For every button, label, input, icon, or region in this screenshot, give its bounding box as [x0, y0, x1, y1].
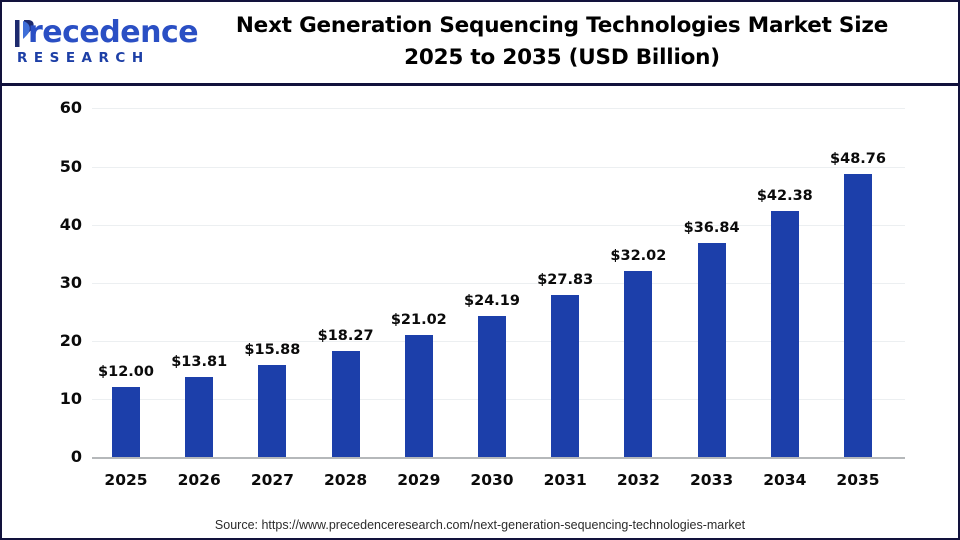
bar[interactable] [771, 211, 799, 457]
bar[interactable] [478, 316, 506, 457]
y-axis-tick-label: 20 [20, 333, 82, 349]
y-axis-tick-label: 0 [20, 449, 82, 465]
bar-value-label: $27.83 [521, 272, 609, 288]
bar-column[interactable]: $36.84 [698, 243, 726, 457]
bar[interactable] [258, 365, 286, 457]
y-axis-tick-label: 30 [20, 275, 82, 291]
bar-value-label: $24.19 [448, 293, 536, 309]
bar-column[interactable]: $15.88 [258, 365, 286, 457]
bar-column[interactable]: $48.76 [844, 174, 872, 457]
gridline [92, 108, 905, 109]
bar[interactable] [185, 377, 213, 457]
bar-value-label: $32.02 [594, 248, 682, 264]
bar[interactable] [332, 351, 360, 457]
bar-value-label: $15.88 [228, 342, 316, 358]
logo-subtitle: RESEARCH [17, 50, 150, 66]
bar-value-label: $42.38 [741, 188, 829, 204]
precedence-research-logo: recedence RESEARCH [14, 16, 174, 72]
chart-header: recedence RESEARCH Next Generation Seque… [2, 2, 958, 86]
bar-column[interactable]: $21.02 [405, 335, 433, 457]
source-note: Source: https://www.precedenceresearch.c… [2, 518, 958, 532]
bar[interactable] [405, 335, 433, 457]
bar[interactable] [551, 295, 579, 457]
bar-column[interactable]: $13.81 [185, 377, 213, 457]
y-axis-tick-label: 10 [20, 391, 82, 407]
chart-figure: recedence RESEARCH Next Generation Seque… [0, 0, 960, 540]
x-axis-baseline [92, 457, 905, 459]
bar[interactable] [698, 243, 726, 457]
chart-plot-area: 0102030405060 $12.00$13.81$15.88$18.27$2… [2, 86, 958, 538]
bar-column[interactable]: $42.38 [771, 211, 799, 457]
bar-column[interactable]: $18.27 [332, 351, 360, 457]
page-title: Next Generation Sequencing Technologies … [182, 10, 942, 74]
bar-column[interactable]: $32.02 [624, 271, 652, 457]
bar-value-label: $21.02 [375, 312, 463, 328]
bar-column[interactable]: $27.83 [551, 295, 579, 457]
title-line-2: 2025 to 2035 (USD Billion) [182, 42, 942, 74]
bar-column[interactable]: $24.19 [478, 316, 506, 457]
y-axis-tick-label: 60 [20, 100, 82, 116]
gridline [92, 167, 905, 168]
y-axis-tick-label: 50 [20, 159, 82, 175]
bar[interactable] [624, 271, 652, 457]
bar-value-label: $36.84 [668, 220, 756, 236]
bar-value-label: $48.76 [814, 151, 902, 167]
title-line-1: Next Generation Sequencing Technologies … [182, 10, 942, 42]
y-axis-tick-label: 40 [20, 217, 82, 233]
bar[interactable] [844, 174, 872, 457]
bar[interactable] [112, 387, 140, 457]
logo-wordmark: recedence [28, 16, 198, 50]
bar-value-label: $18.27 [302, 328, 390, 344]
bar-column[interactable]: $12.00 [112, 387, 140, 457]
x-axis-tick-label: 2035 [814, 471, 902, 489]
